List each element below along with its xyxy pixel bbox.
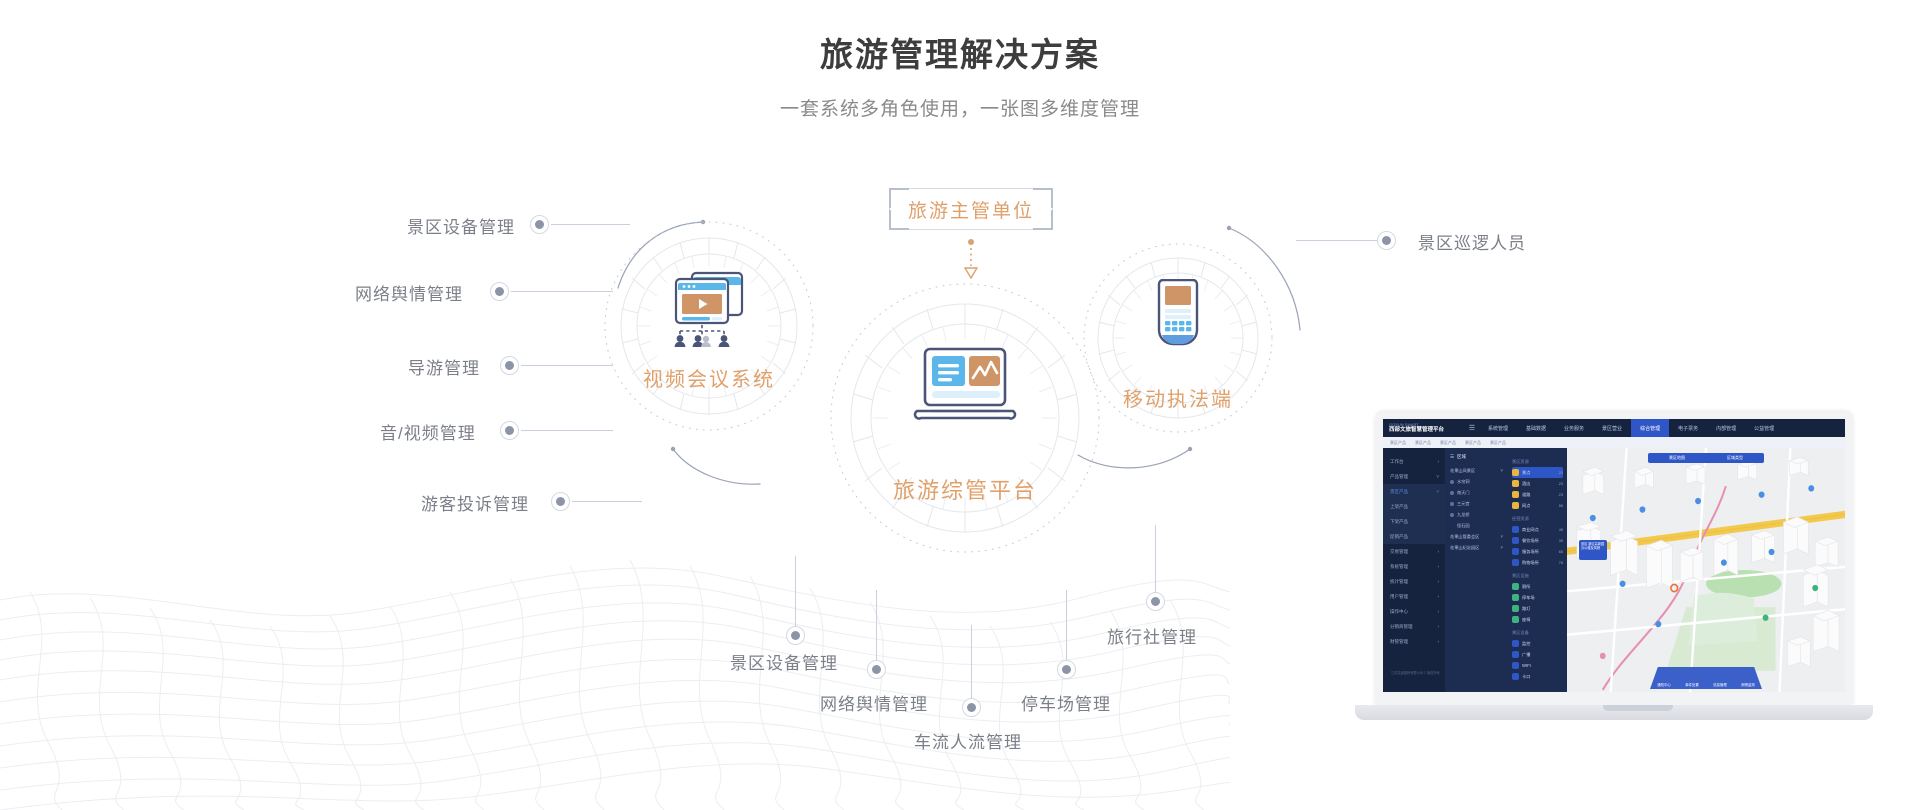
sidebar-item[interactable]: 上架产品 (1383, 499, 1445, 514)
tree-node[interactable]: 南天门 (1450, 487, 1503, 498)
layer-item[interactable]: 厕所 (1512, 581, 1563, 592)
laptop-mockup: GOSUN SMART 西部文旅智慧管理平台 ☰ 系统管理 基础数据 业务服务 … (1355, 410, 1920, 770)
page-subtitle: 一套系统多角色使用，一张图多维度管理 (0, 94, 1920, 121)
bottom-spoke-label-5: 旅行社管理 (1107, 623, 1197, 648)
dashboard-screenshot: GOSUN SMART 西部文旅智慧管理平台 ☰ 系统管理 基础数据 业务服务 … (1383, 419, 1845, 692)
bottom-spoke-dot-5[interactable] (1146, 592, 1165, 611)
bottom-spoke-line-4 (1066, 590, 1067, 660)
left-spoke-line-3 (521, 365, 613, 366)
bottom-spoke-dot-3[interactable] (962, 698, 981, 717)
bottom-spoke-label-2: 网络舆情管理 (820, 690, 928, 715)
layer-item[interactable]: WIFI (1512, 660, 1563, 671)
sidebar-item[interactable]: 交易管理› (1383, 544, 1445, 559)
layer-item[interactable]: 广播 (1512, 649, 1563, 660)
poster-header: 旅游管理解决方案 一套系统多角色使用，一张图多维度管理 (0, 34, 1920, 121)
laptop-dashboard-icon (911, 345, 1019, 427)
node-tourism-platform[interactable]: 旅游综管平台 (830, 283, 1100, 553)
layer-item[interactable]: 道路23 (1512, 489, 1563, 500)
left-spoke-line-4 (521, 430, 613, 431)
dashboard-topbar: GOSUN SMART 西部文旅智慧管理平台 ☰ 系统管理 基础数据 业务服务 … (1383, 419, 1845, 437)
left-spoke-line-2 (511, 291, 613, 292)
layer-item[interactable]: 座椅 (1512, 614, 1563, 625)
bottom-spoke-line-5 (1155, 525, 1156, 592)
bottom-spoke-dot-1[interactable] (786, 626, 805, 645)
map-dock-item[interactable]: 舆情监测 (1741, 682, 1755, 687)
supervisor-unit-label: 旅游主管单位 (889, 188, 1053, 230)
nav-item[interactable]: 电子票务 (1669, 419, 1707, 437)
sidebar-item[interactable]: 操作中心› (1383, 604, 1445, 619)
layer-list: 景区资源 景点23 酒店23 道路23 网点56 经营资源 商业网点45 餐饮场… (1508, 448, 1567, 692)
left-spoke-dot-3[interactable] (500, 356, 519, 375)
nav-item[interactable]: 公益管理 (1745, 419, 1783, 437)
tree-node[interactable]: 花果山风景区˅ (1450, 465, 1503, 476)
subnav-item[interactable]: 景区产品 (1440, 440, 1456, 446)
left-spoke-label-3: 导游管理 (408, 354, 480, 379)
sidebar-item[interactable]: 工作台› (1383, 454, 1445, 469)
layer-item[interactable]: 网点56 (1512, 500, 1563, 511)
left-spoke-dot-5[interactable] (551, 492, 570, 511)
bottom-spoke-line-2 (876, 590, 877, 660)
layer-item[interactable]: 服务场所65 (1512, 546, 1563, 557)
handheld-terminal-icon (1151, 279, 1205, 351)
sidebar-item[interactable]: 用户管理› (1383, 589, 1445, 604)
bottom-spoke-line-1 (795, 556, 796, 626)
sidebar-item[interactable]: 财管管理› (1383, 634, 1445, 649)
map-dock[interactable]: 通知中心 事件处置 信息管理 舆情监测 (1650, 667, 1762, 689)
laptop-screen: GOSUN SMART 西部文旅智慧管理平台 ☰ 系统管理 基础数据 业务服务 … (1383, 419, 1845, 692)
tree-node[interactable]: 花果山纪念园区˅ (1450, 542, 1503, 553)
subnav-item[interactable]: 景区产品 (1490, 440, 1506, 446)
right-spoke-dot-1[interactable] (1377, 231, 1396, 250)
left-spoke-dot-2[interactable] (490, 282, 509, 301)
layer-item[interactable]: 卡口 (1512, 671, 1563, 682)
left-spoke-label-1: 景区设备管理 (407, 213, 515, 238)
map-dock-item[interactable]: 通知中心 (1657, 682, 1671, 687)
layer-group-title: 景区设施 (1512, 573, 1563, 579)
bottom-spoke-dot-2[interactable] (867, 660, 886, 679)
layer-group-title: 经营资源 (1512, 516, 1563, 522)
tree-node[interactable]: 怪石园 (1450, 520, 1503, 531)
sidebar-item-active[interactable]: 景区产品˅ (1383, 484, 1445, 499)
map-toolbar-left[interactable]: 景区地图 (1669, 455, 1685, 461)
hamburger-icon[interactable]: ☰ (1465, 424, 1479, 432)
tree-node[interactable]: 水帘洞 (1450, 476, 1503, 487)
video-conference-icon (668, 269, 750, 349)
map-toolbar-right[interactable]: 区域类型 (1727, 455, 1743, 461)
tree-node[interactable]: 九龙桥 (1450, 509, 1503, 520)
node-mobile-enforcement-label: 移动执法端 (1083, 383, 1273, 412)
right-spoke-line-1 (1296, 240, 1377, 241)
layer-item[interactable]: 酒店23 (1512, 478, 1563, 489)
laptop-lid: GOSUN SMART 西部文旅智慧管理平台 ☰ 系统管理 基础数据 业务服务 … (1375, 410, 1853, 705)
nav-item[interactable]: 系统管理 (1479, 419, 1517, 437)
subnav-item[interactable]: 景区产品 (1465, 440, 1481, 446)
poster-stage: 旅游管理解决方案 一套系统多角色使用，一张图多维度管理 旅游主管单位 (0, 0, 1920, 810)
sidebar-item[interactable]: 下架产品 (1383, 514, 1445, 529)
tree-node[interactable]: 三元宫 (1450, 498, 1503, 509)
nav-item[interactable]: 内部管理 (1707, 419, 1745, 437)
right-spoke-label-1: 景区巡逻人员 (1418, 229, 1526, 254)
node-video-conference-label: 视频会议系统 (604, 363, 814, 392)
bottom-spoke-label-4: 停车场管理 (1021, 690, 1111, 715)
dashboard-nav: 系统管理 基础数据 业务服务 景区营业 综合管理 电子票务 内部管理 公益管理 (1479, 419, 1845, 437)
bottom-spoke-label-3: 车流人流管理 (914, 728, 1022, 753)
nav-item[interactable]: 基础数据 (1517, 419, 1555, 437)
layer-group-title: 景区设备 (1512, 630, 1563, 636)
map-toolbar[interactable]: 景区地图 区域类型 (1648, 453, 1764, 463)
bottom-spoke-label-1: 景区设备管理 (730, 649, 838, 674)
left-spoke-label-2: 网络舆情管理 (355, 280, 463, 305)
dotted-down-arrow-icon (956, 238, 986, 280)
layer-item[interactable]: 路灯 (1512, 603, 1563, 614)
layer-item[interactable]: 停车场 (1512, 592, 1563, 603)
sidebar-item[interactable]: 统计管理› (1383, 574, 1445, 589)
nav-item-active[interactable]: 综合管理 (1631, 419, 1669, 437)
left-spoke-dot-1[interactable] (530, 215, 549, 234)
sidebar-item[interactable]: 产品管理˅ (1383, 469, 1445, 484)
node-video-conference[interactable]: 视频会议系统 (604, 221, 814, 431)
sidebar-item[interactable]: 系统管理› (1383, 559, 1445, 574)
bottom-spoke-dot-4[interactable] (1057, 660, 1076, 679)
node-tourism-platform-label: 旅游综管平台 (830, 473, 1100, 505)
left-spoke-line-5 (572, 501, 642, 502)
dashboard-body: 工作台› 产品管理˅ 景区产品˅ 上架产品 下架产品 促销产品 交易管理› 系统… (1383, 448, 1845, 692)
layer-item[interactable]: 餐饮场所39 (1512, 535, 1563, 546)
layer-item[interactable]: 监控 (1512, 638, 1563, 649)
map-dock-item[interactable]: 事件处置 (1685, 682, 1699, 687)
left-spoke-line-1 (551, 224, 630, 225)
left-spoke-label-5: 游客投诉管理 (421, 490, 529, 515)
bottom-spoke-line-3 (971, 625, 972, 703)
nav-item[interactable]: 业务服务 (1555, 419, 1593, 437)
layer-item[interactable]: 商业网点45 (1512, 524, 1563, 535)
dashboard-logo: GOSUN SMART 西部文旅智慧管理平台 (1383, 422, 1465, 435)
layer-item-active[interactable]: 景点23 (1512, 467, 1563, 478)
layer-item[interactable]: 购物场所78 (1512, 557, 1563, 568)
dashboard-subnav: 景区产品 景区产品 景区产品 景区产品 景区产品 (1383, 437, 1845, 448)
subnav-item[interactable]: 景区产品 (1390, 440, 1406, 446)
region-tree-header: ☰ 区域 (1450, 454, 1503, 460)
sidebar-footer: 江苏高速路桥有限公司 © 版权所有 (1383, 671, 1445, 676)
dashboard-panel: ☰ 区域 花果山风景区˅ 水帘洞 南天门 三元宫 九龙桥 怪石园 花果山管委会区… (1445, 448, 1567, 692)
region-tree: ☰ 区域 花果山风景区˅ 水帘洞 南天门 三元宫 九龙桥 怪石园 花果山管委会区… (1445, 448, 1508, 692)
tree-node[interactable]: 花果山管委会区˅ (1450, 531, 1503, 542)
sidebar-item[interactable]: 分销商管理› (1383, 619, 1445, 634)
sidebar-item[interactable]: 促销产品 (1383, 529, 1445, 544)
page-title: 旅游管理解决方案 (0, 34, 1920, 77)
map-dock-item[interactable]: 信息管理 (1713, 682, 1727, 687)
left-spoke-dot-4[interactable] (500, 421, 519, 440)
subnav-item[interactable]: 景区产品 (1415, 440, 1431, 446)
dashboard-sidebar: 工作台› 产品管理˅ 景区产品˅ 上架产品 下架产品 促销产品 交易管理› 系统… (1383, 448, 1445, 692)
left-spoke-label-4: 音/视频管理 (380, 419, 476, 444)
node-mobile-enforcement[interactable]: 移动执法端 (1083, 243, 1273, 433)
list-icon: ☰ (1450, 454, 1454, 460)
layer-group-title: 景区资源 (1512, 459, 1563, 465)
nav-item[interactable]: 景区营业 (1593, 419, 1631, 437)
supervisor-unit-box: 旅游主管单位 (889, 188, 1053, 230)
map-view[interactable]: 景区地图 区域类型 景区 新区高新园 办公楼及风貌 通知中心 事件处置 信息管理… (1567, 448, 1845, 692)
laptop-notch (1603, 705, 1673, 711)
map-callout: 景区 新区高新园 办公楼及风貌 (1579, 540, 1607, 560)
